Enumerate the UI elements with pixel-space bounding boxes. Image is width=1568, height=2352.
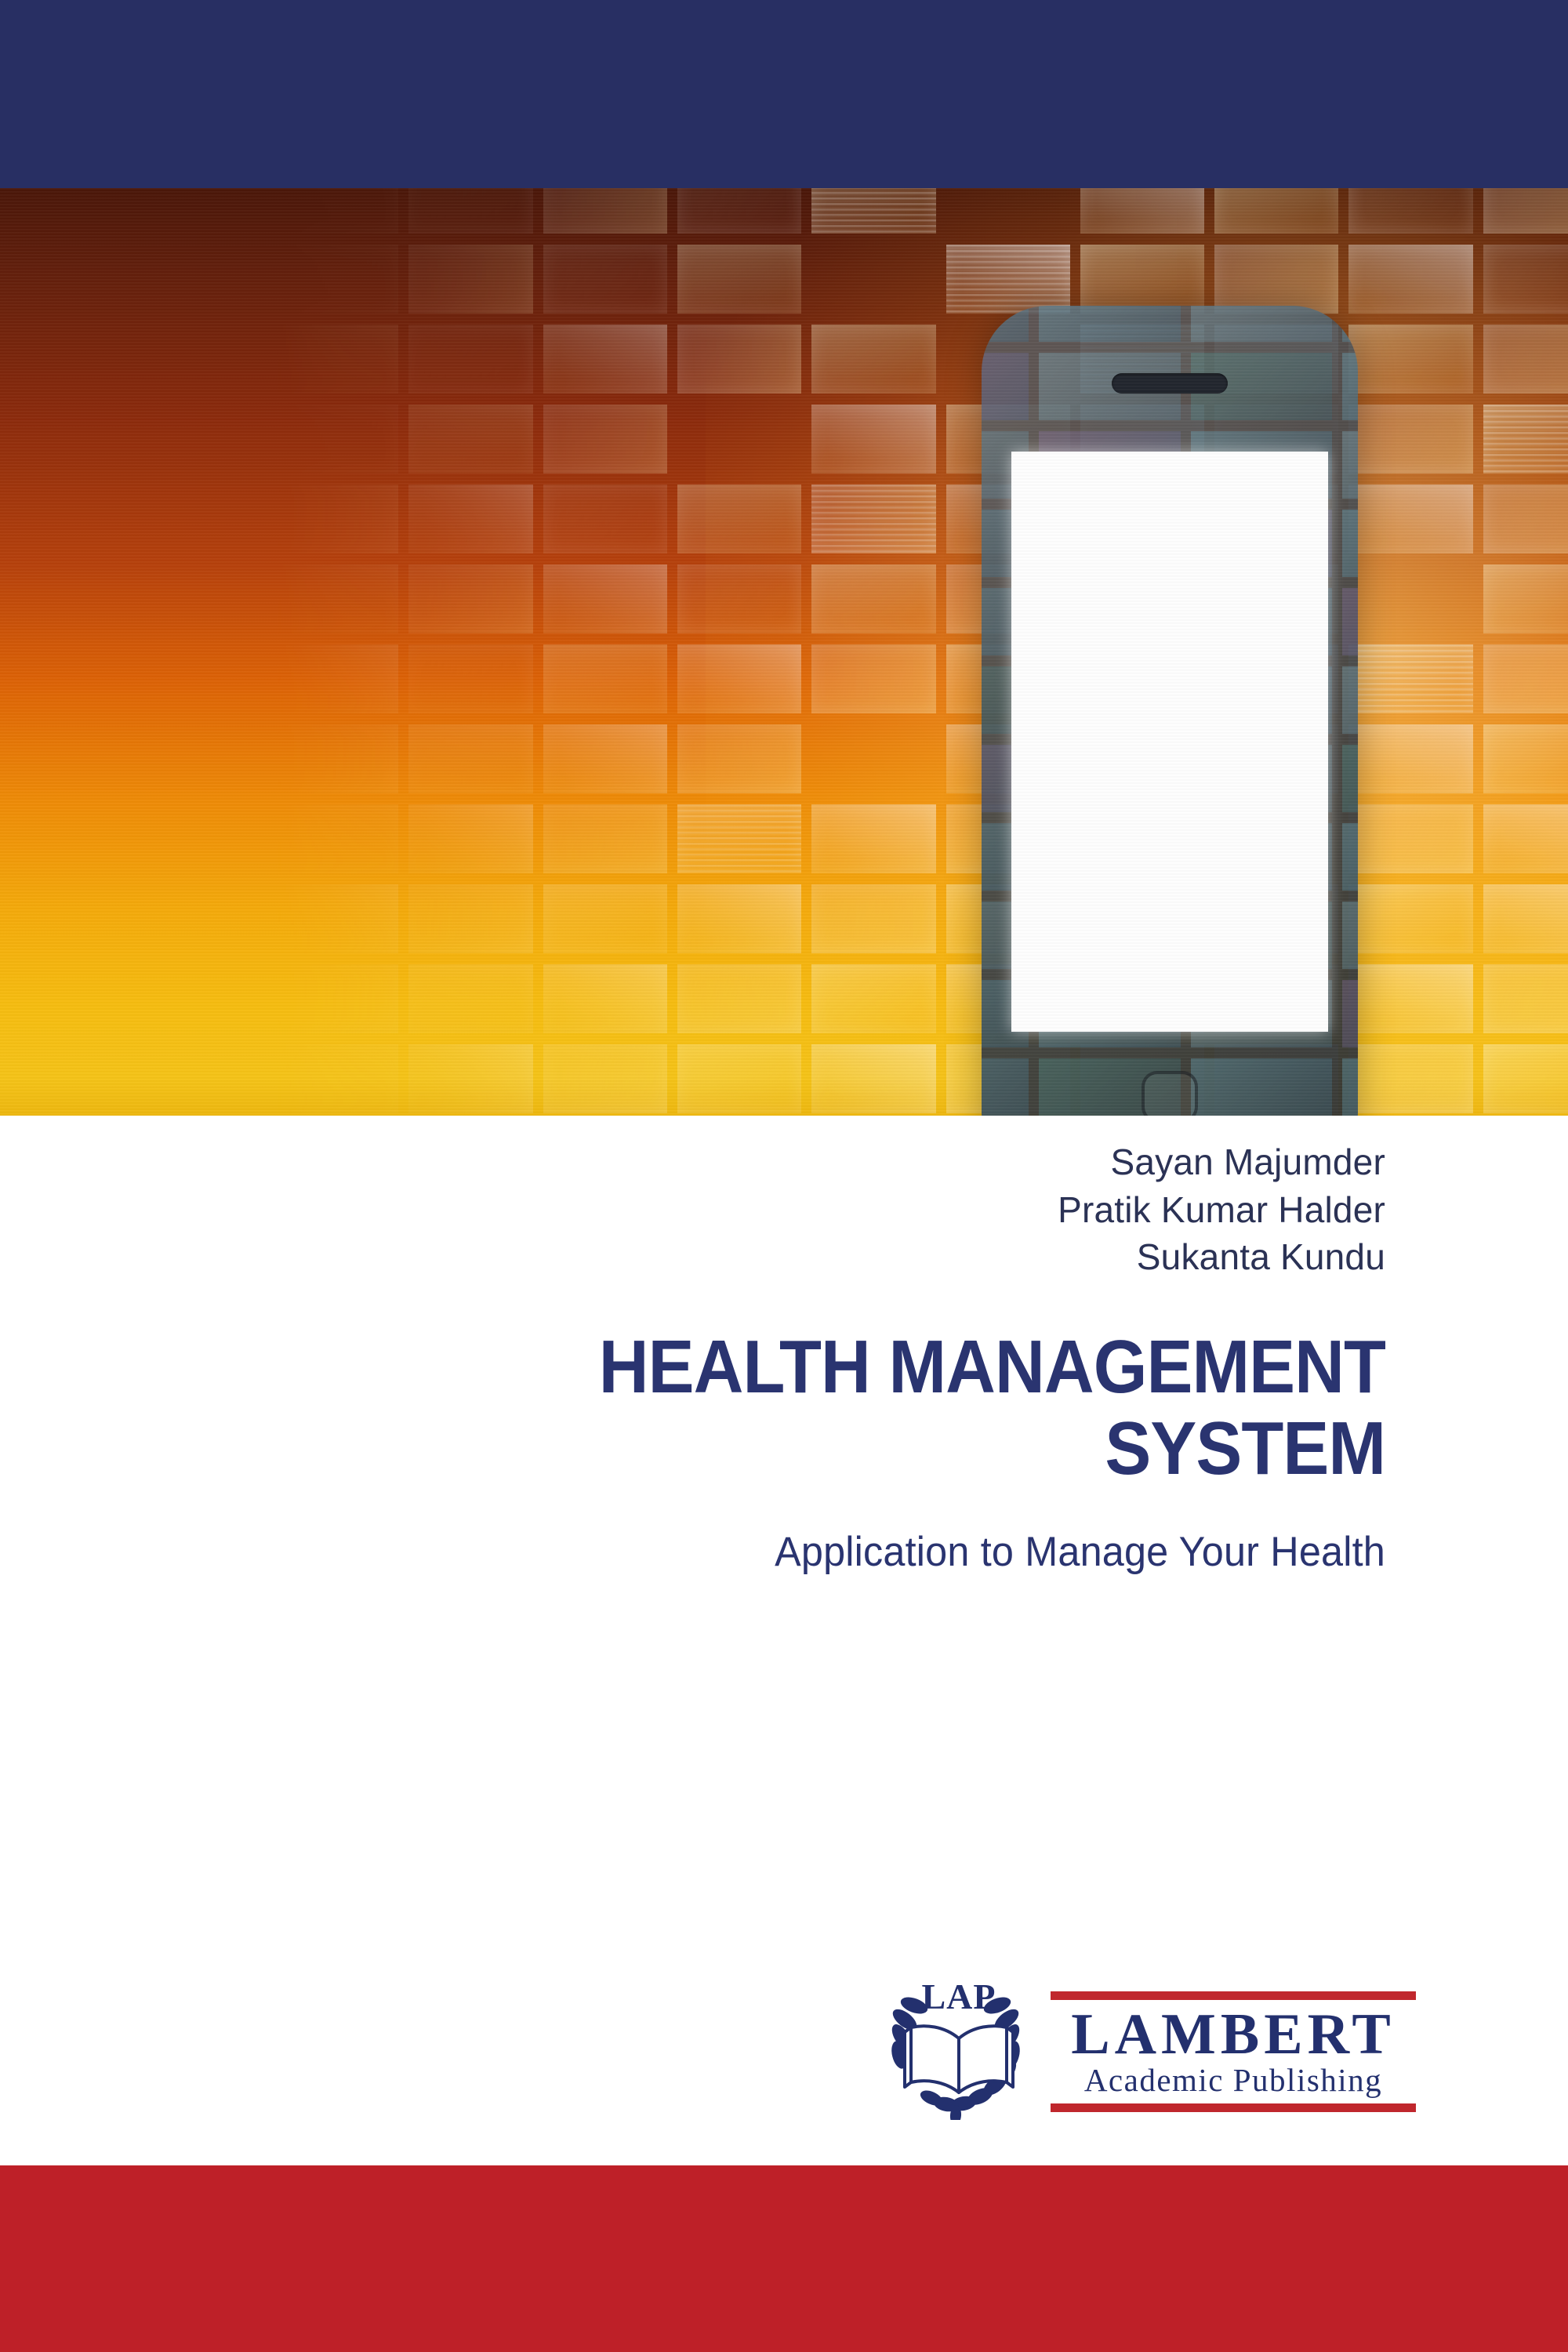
cover-text-block: Sayan Majumder Pratik Kumar Halder Sukan… [0,1138,1385,1577]
book-title: HEALTH MANAGEMENT SYSTEM [111,1327,1385,1489]
author-name: Pratik Kumar Halder [0,1186,1385,1234]
open-book-laurel-wreath-icon: LAP [884,1980,1033,2120]
phone-home-button-icon [1142,1071,1198,1116]
media-tile-grid [274,188,1568,1116]
logo-bottom-rule [1051,2103,1416,2112]
author-name: Sukanta Kundu [0,1233,1385,1281]
bottom-red-band [0,2165,1568,2352]
book-subtitle: Application to Manage Your Health [69,1527,1385,1577]
publisher-tagline: Academic Publishing [1051,2064,1416,2096]
cover-artwork [0,188,1568,1116]
phone-screen [1011,452,1328,1032]
logo-top-rule [1051,1991,1416,2000]
phone-earpiece-speaker-icon [1112,373,1228,394]
author-name: Sayan Majumder [0,1138,1385,1186]
book-cover: Sayan Majumder Pratik Kumar Halder Sukan… [0,0,1568,2352]
svg-text:LAP: LAP [922,1980,996,2016]
publisher-logo: LAP LAMBERT Academic Publishing [884,1976,1433,2125]
book-title-line-2: SYSTEM [1105,1406,1385,1490]
smartphone-icon [982,306,1358,1116]
publisher-wordmark: LAMBERT Academic Publishing [1051,1988,1416,2112]
author-list: Sayan Majumder Pratik Kumar Halder Sukan… [0,1138,1385,1281]
publisher-name: LAMBERT [1051,2007,1416,2063]
book-title-line-1: HEALTH MANAGEMENT [599,1325,1385,1409]
top-navy-band [0,0,1568,188]
